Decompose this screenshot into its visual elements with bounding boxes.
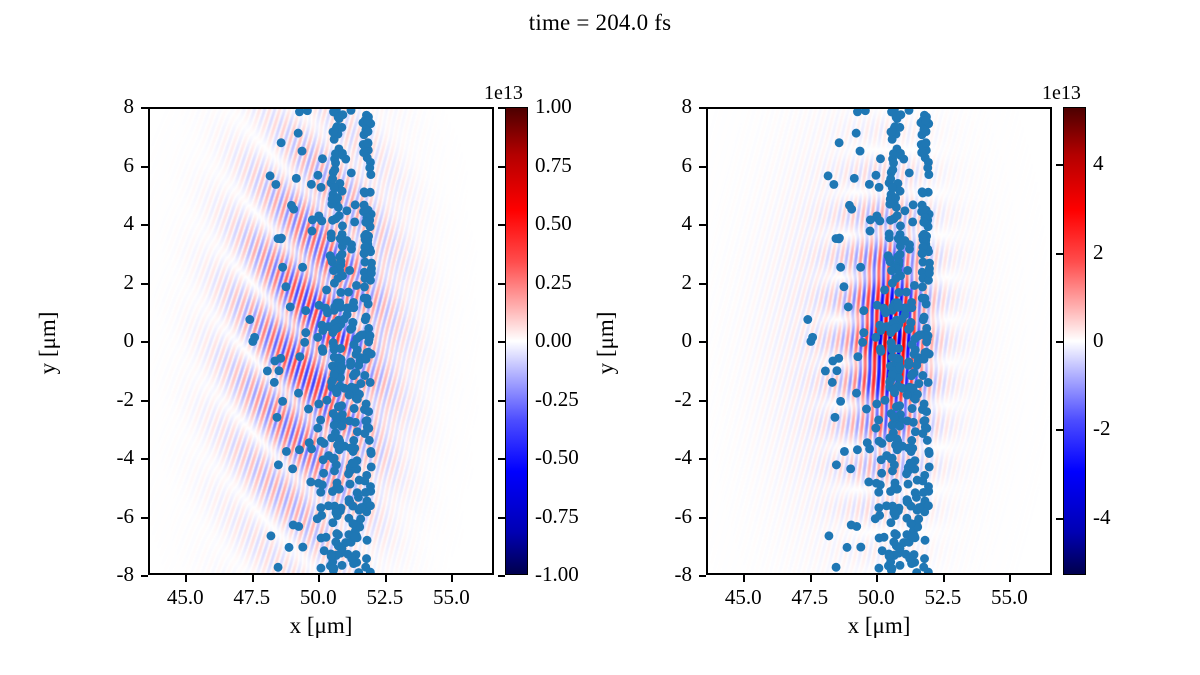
colorbar-tick-label: 1.00 (535, 94, 572, 119)
xtick (318, 575, 320, 582)
panel-transverse-field: 45.047.550.052.555.086420-2-4-6-8 x [μm]… (600, 0, 1200, 675)
yaxis-label-left: y [μm] (35, 263, 61, 423)
colorbar-tick (498, 283, 505, 285)
colorbar-tick-label: 0.75 (535, 153, 572, 178)
xtick (252, 575, 254, 582)
colorbar-tick (1056, 518, 1063, 520)
ytick-label: -8 (622, 562, 692, 587)
colorbar-tick-label: 0 (1093, 328, 1104, 353)
colorbar-tick-label: -0.25 (535, 387, 579, 412)
ytick (699, 283, 706, 285)
ytick (699, 517, 706, 519)
colorbar-tick (1056, 253, 1063, 255)
colorbar-tick (498, 107, 505, 109)
xtick (876, 575, 878, 582)
ytick (141, 517, 148, 519)
xtick (385, 575, 387, 582)
colorbar-tick-label: 0.50 (535, 211, 572, 236)
ytick-label: 8 (64, 94, 134, 119)
colorbar-tick (498, 341, 505, 343)
xtick (451, 575, 453, 582)
yaxis-label-right: y [μm] (593, 263, 619, 423)
ytick-label: 0 (64, 328, 134, 353)
colorbar-longitudinal[interactable] (505, 107, 528, 575)
colorbar-tick-label: -2 (1093, 416, 1111, 441)
ytick-label: 6 (622, 153, 692, 178)
ytick-label: -6 (64, 504, 134, 529)
ytick (699, 166, 706, 168)
ytick (699, 224, 706, 226)
colorbar-tick-label: 4 (1093, 151, 1104, 176)
colorbar-tick (498, 458, 505, 460)
panel-longitudinal-field: 45.047.550.052.555.086420-2-4-6-8 x [μm]… (0, 0, 600, 675)
ytick (141, 283, 148, 285)
ytick (141, 341, 148, 343)
ytick (699, 575, 706, 577)
xaxis-label-right: x [μm] (706, 613, 1052, 639)
colorbar-tick-label: -0.50 (535, 445, 579, 470)
axes-transverse[interactable] (706, 107, 1052, 575)
ytick-label: -8 (64, 562, 134, 587)
colorbar-offset-left: 1e13 (484, 82, 523, 105)
colorbar-tick-label: 0.00 (535, 328, 572, 353)
colorbar-tick (498, 517, 505, 519)
xtick (185, 575, 187, 582)
xtick (810, 575, 812, 582)
colorbar-tick-label: -4 (1093, 505, 1111, 530)
axes-longitudinal[interactable] (148, 107, 494, 575)
xtick (743, 575, 745, 582)
ytick-label: 2 (622, 270, 692, 295)
ytick (141, 458, 148, 460)
colorbar-tick-label: -1.00 (535, 562, 579, 587)
ytick (141, 400, 148, 402)
colorbar-tick-label: 0.25 (535, 270, 572, 295)
ytick (141, 224, 148, 226)
colorbar-tick (498, 400, 505, 402)
ytick (699, 458, 706, 460)
ytick-label: -2 (64, 387, 134, 412)
ytick (141, 107, 148, 109)
xtick-label: 55.0 (406, 585, 496, 610)
colorbar-tick (1056, 429, 1063, 431)
ytick-label: 4 (622, 211, 692, 236)
ytick (699, 341, 706, 343)
particle-scatter-right (708, 109, 1050, 573)
ytick (141, 575, 148, 577)
colorbar-transverse[interactable] (1063, 107, 1086, 575)
ytick (699, 400, 706, 402)
colorbar-tick-label: 2 (1093, 240, 1104, 265)
ytick-label: 2 (64, 270, 134, 295)
ytick-label: -6 (622, 504, 692, 529)
colorbar-tick (498, 224, 505, 226)
xaxis-label-left: x [μm] (148, 613, 494, 639)
colorbar-tick (498, 575, 505, 577)
colorbar-tick-label: -0.75 (535, 504, 579, 529)
xtick (943, 575, 945, 582)
colorbar-tick (498, 166, 505, 168)
ytick-label: 4 (64, 211, 134, 236)
ytick (699, 107, 706, 109)
ytick-label: -4 (64, 445, 134, 470)
ytick (141, 166, 148, 168)
figure-canvas: time = 204.0 fs 45.047.550.052.555.08642… (0, 0, 1200, 675)
ytick-label: 6 (64, 153, 134, 178)
colorbar-tick (1056, 164, 1063, 166)
colorbar-offset-right: 1e13 (1042, 82, 1081, 105)
xtick-label: 55.0 (964, 585, 1054, 610)
particle-scatter-left (150, 109, 492, 573)
ytick-label: 8 (622, 94, 692, 119)
ytick-label: -2 (622, 387, 692, 412)
ytick-label: 0 (622, 328, 692, 353)
xtick (1009, 575, 1011, 582)
colorbar-tick (1056, 341, 1063, 343)
ytick-label: -4 (622, 445, 692, 470)
